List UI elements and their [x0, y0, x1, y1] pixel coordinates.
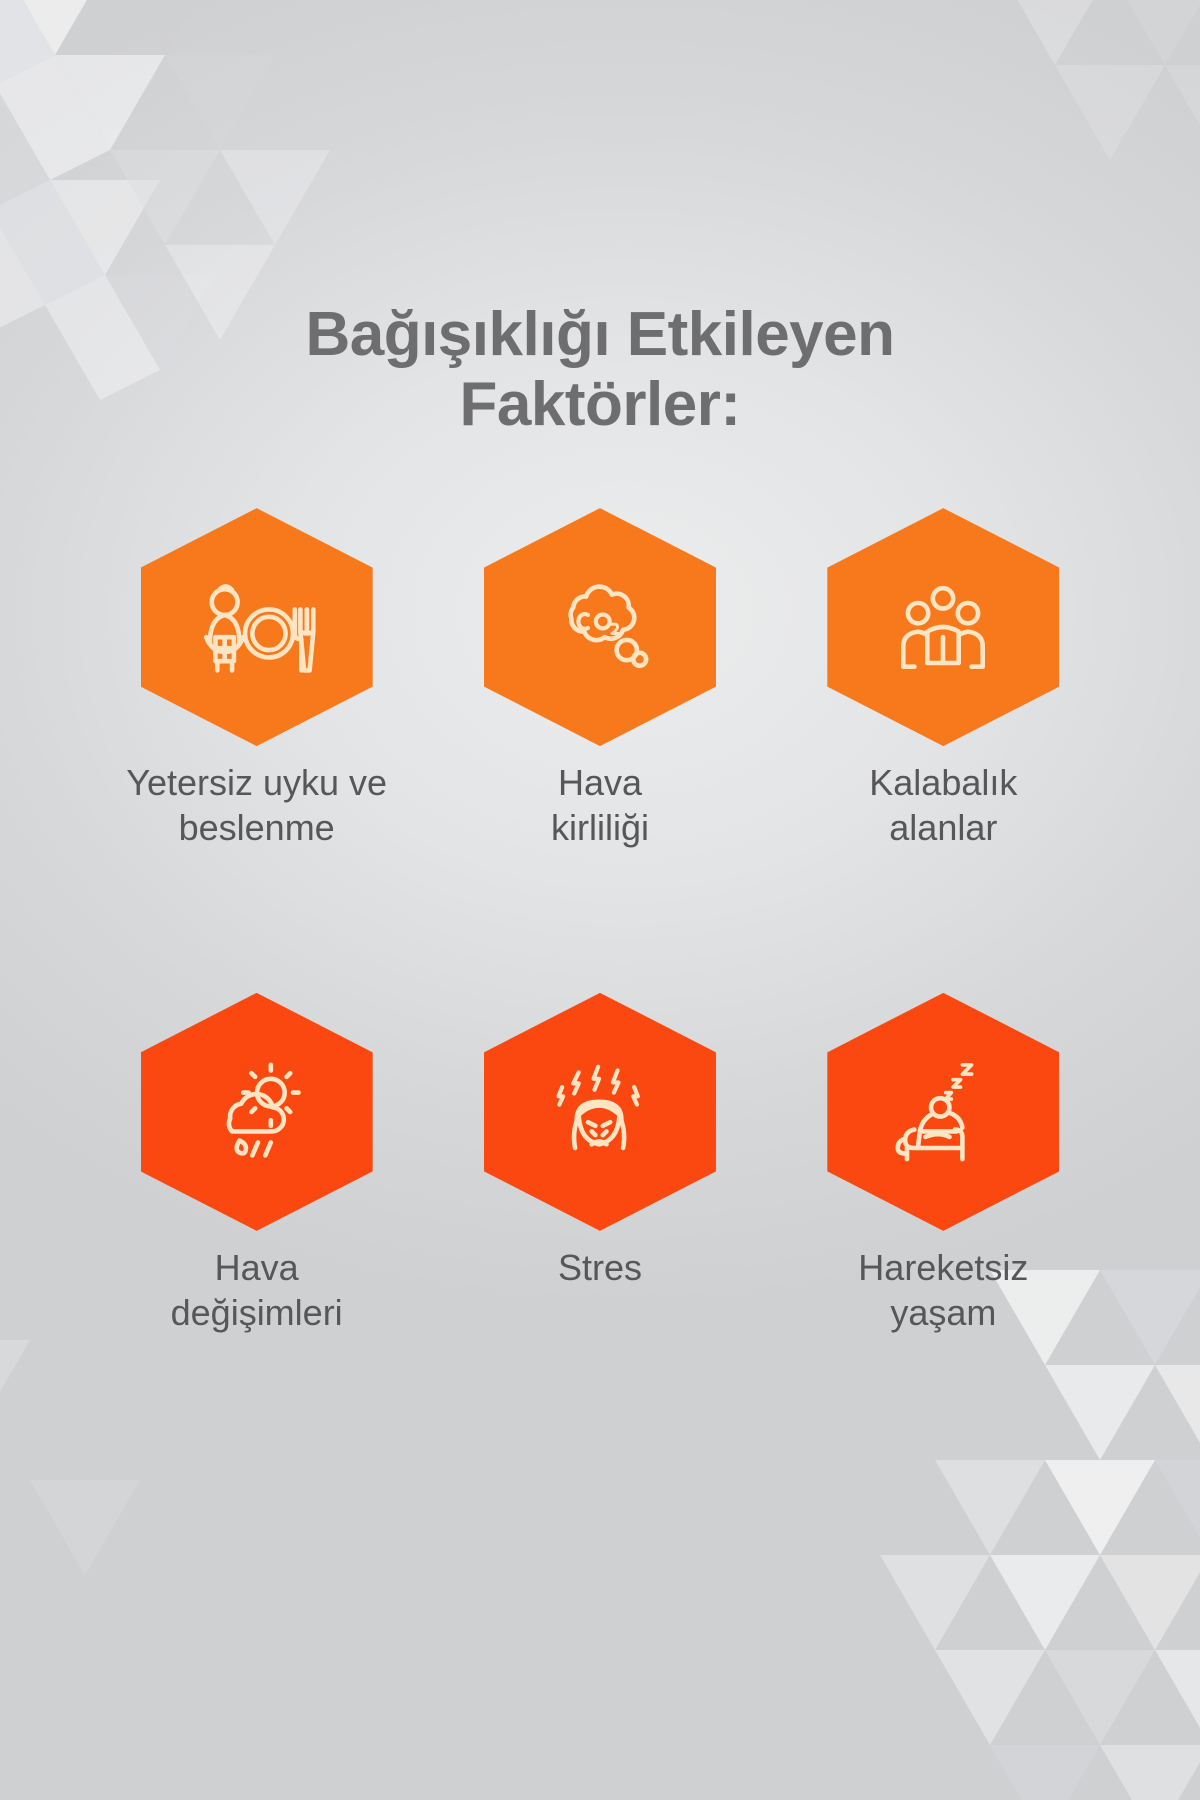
- factor-label-6-line-1: Hareketsiz: [858, 1245, 1028, 1290]
- factor-card-2: Hava kirliliği: [450, 508, 750, 851]
- person-eating-plate-cutlery-icon: [197, 567, 317, 687]
- factor-label-2-line-2: kirliliği: [551, 805, 649, 850]
- factor-label-3-line-1: Kalabalık: [869, 760, 1017, 805]
- factor-grid-row-1: Yetersiz uyku ve beslenme: [90, 508, 1110, 851]
- factor-grid-row-2: Hava değişimleri: [90, 993, 1110, 1336]
- factor-card-1: Yetersiz uyku ve beslenme: [107, 508, 407, 851]
- factor-label-6: Hareketsiz yaşam: [858, 1245, 1028, 1336]
- factor-label-1-line-2: beslenme: [126, 805, 387, 850]
- factor-label-5: Stres: [558, 1245, 642, 1290]
- title-line-1: Bağışıklığı Etkileyen: [90, 300, 1110, 370]
- factor-label-2: Hava kirliliği: [551, 760, 649, 851]
- factor-label-4-line-2: değişimleri: [171, 1290, 343, 1335]
- hexagon-badge-4: [141, 993, 373, 1231]
- stressed-person-lightning-icon: [540, 1052, 660, 1172]
- hexagon-badge-1: [141, 508, 373, 746]
- factor-label-1: Yetersiz uyku ve beslenme: [126, 760, 387, 851]
- crowd-people-group-icon: [883, 567, 1003, 687]
- factor-label-1-line-1: Yetersiz uyku ve: [126, 760, 387, 805]
- hexagon-badge-6: [827, 993, 1059, 1231]
- factor-card-3: Kalabalık alanlar: [793, 508, 1093, 851]
- factor-card-4: Hava değişimleri: [107, 993, 407, 1336]
- infographic-poster: Bağışıklığı Etkileyen Faktörler:: [0, 0, 1200, 1800]
- factor-label-3: Kalabalık alanlar: [869, 760, 1017, 851]
- factor-card-5: Stres: [450, 993, 750, 1336]
- poster-content: Bağışıklığı Etkileyen Faktörler:: [0, 0, 1200, 1800]
- hexagon-badge-2: [484, 508, 716, 746]
- co2-cloud-icon: [540, 567, 660, 687]
- hexagon-badge-3: [827, 508, 1059, 746]
- factor-label-6-line-2: yaşam: [858, 1290, 1028, 1335]
- factor-label-5-line-1: Stres: [558, 1245, 642, 1290]
- factor-label-3-line-2: alanlar: [869, 805, 1017, 850]
- factor-card-6: Hareketsiz yaşam: [793, 993, 1093, 1336]
- factor-label-2-line-1: Hava: [551, 760, 649, 805]
- sun-cloud-rain-icon: [197, 1052, 317, 1172]
- factor-label-4-line-1: Hava: [171, 1245, 343, 1290]
- hexagon-badge-5: [484, 993, 716, 1231]
- page-title: Bağışıklığı Etkileyen Faktörler:: [90, 0, 1110, 440]
- title-line-2: Faktörler:: [90, 370, 1110, 440]
- person-sleeping-armchair-icon: [883, 1052, 1003, 1172]
- factor-label-4: Hava değişimleri: [171, 1245, 343, 1336]
